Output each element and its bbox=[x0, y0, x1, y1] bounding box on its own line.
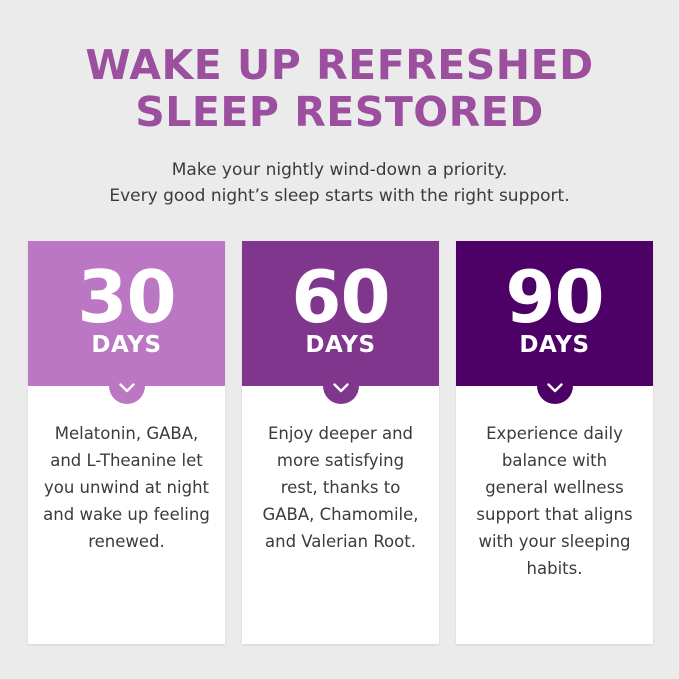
plan-card-description: Experience daily balance with general we… bbox=[456, 386, 653, 644]
headline-line-1: WAKE UP REFRESHED bbox=[0, 42, 679, 89]
plan-card-90-days: 90 DAYS Experience daily balance with ge… bbox=[456, 241, 653, 644]
plan-card-list: 30 DAYS Melatonin, GABA, and L-Theanine … bbox=[28, 241, 653, 644]
plan-card-header: 60 DAYS bbox=[242, 241, 439, 386]
chevron-down-icon bbox=[323, 368, 359, 404]
plan-duration-unit: DAYS bbox=[91, 333, 161, 358]
plan-duration-number: 60 bbox=[291, 241, 389, 335]
plan-duration-number: 30 bbox=[77, 241, 175, 335]
plan-card-30-days: 30 DAYS Melatonin, GABA, and L-Theanine … bbox=[28, 241, 225, 644]
plan-duration-unit: DAYS bbox=[305, 333, 375, 358]
promo-graphic: WAKE UP REFRESHED SLEEP RESTORED Make yo… bbox=[0, 0, 679, 679]
chevron-down-icon bbox=[537, 368, 573, 404]
plan-card-header: 90 DAYS bbox=[456, 241, 653, 386]
plan-card-header: 30 DAYS bbox=[28, 241, 225, 386]
plan-duration-unit: DAYS bbox=[519, 333, 589, 358]
plan-card-description: Melatonin, GABA, and L-Theanine let you … bbox=[28, 386, 225, 644]
plan-card-60-days: 60 DAYS Enjoy deeper and more satisfying… bbox=[242, 241, 439, 644]
page-title: WAKE UP REFRESHED SLEEP RESTORED bbox=[0, 0, 679, 136]
plan-card-description: Enjoy deeper and more satisfying rest, t… bbox=[242, 386, 439, 644]
headline-line-2: SLEEP RESTORED bbox=[0, 89, 679, 136]
chevron-down-icon bbox=[109, 368, 145, 404]
subtitle-line-2: Every good night’s sleep starts with the… bbox=[0, 183, 679, 209]
plan-duration-number: 90 bbox=[505, 241, 603, 335]
subtitle: Make your nightly wind-down a priority. … bbox=[0, 136, 679, 209]
subtitle-line-1: Make your nightly wind-down a priority. bbox=[0, 157, 679, 183]
